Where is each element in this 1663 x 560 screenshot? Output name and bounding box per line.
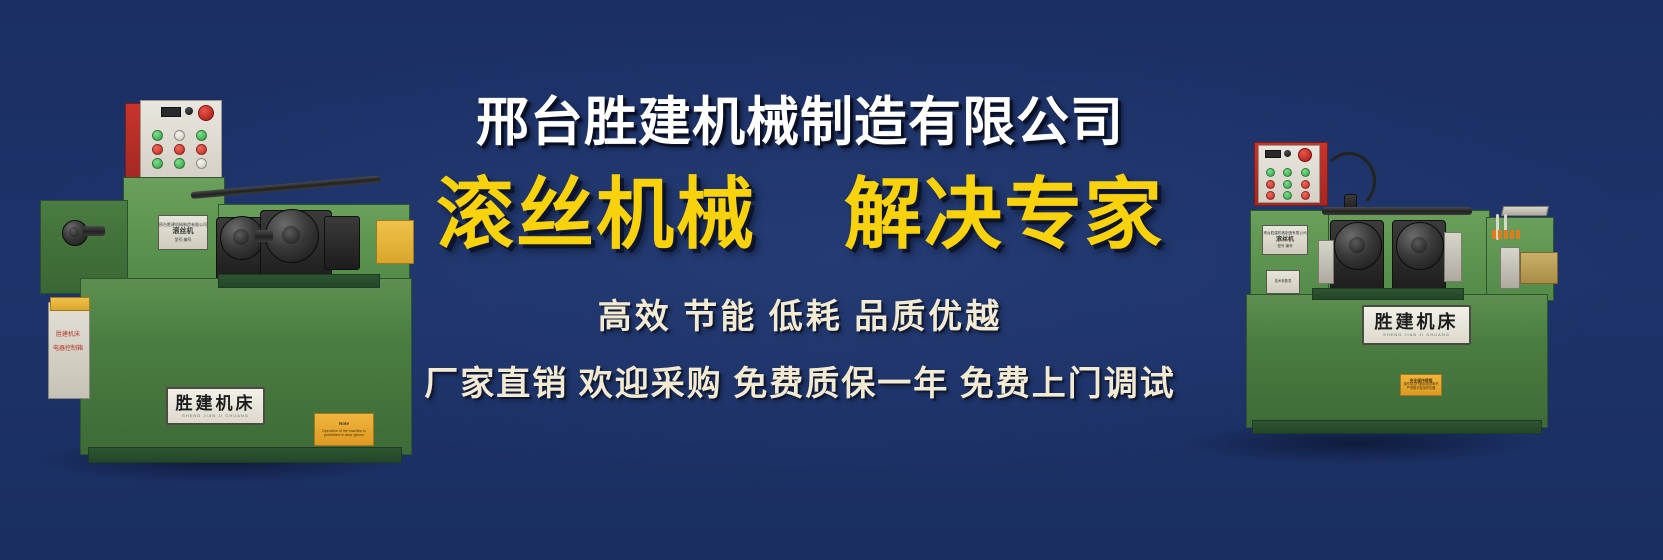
- emergency-stop-button: [198, 105, 214, 121]
- panel-button: [196, 130, 207, 141]
- indicator-dot: [1492, 230, 1496, 239]
- indicator-dot: [1510, 230, 1514, 239]
- spec-plate-line1: 邢台胜建机械制造有限公司: [1263, 231, 1306, 235]
- warn-title: Note: [339, 421, 349, 426]
- panel-button: [152, 144, 163, 155]
- spec-plate-line2: 滚丝机: [173, 228, 194, 236]
- panel-button: [1266, 180, 1275, 189]
- tagline-primary: 高效 节能 低耗 品质优越: [390, 289, 1210, 338]
- panel-button: [174, 130, 185, 141]
- roller-hub: [1411, 237, 1427, 253]
- banner-text-block: 邢台胜建机械制造有限公司 滚丝机械 解决专家 高效 节能 低耗 品质优越 厂家直…: [390, 95, 1210, 405]
- machine-bed-shadow: [1312, 288, 1464, 300]
- die-guide-left: [1318, 240, 1334, 284]
- warn-line2: 严禁戴手套操作机器: [1407, 387, 1436, 391]
- cabinet-text: 胜建机床 电器控制箱: [48, 332, 88, 354]
- brand-nameplate: 胜建机床 SHENG JIAN JI CHUANG: [166, 387, 265, 425]
- tagline-secondary: 厂家直销 欢迎采购 免费质保一年 免费上门调试: [390, 356, 1210, 405]
- panel-display: [161, 107, 181, 117]
- panel-button: [1301, 191, 1310, 200]
- spec-plate-line3: 型号 编号: [174, 238, 191, 243]
- panel-button: [196, 158, 207, 169]
- spec-plate-line1: 邢台胜建机械制造有限公司: [159, 223, 207, 228]
- spec-plate: 邢台胜建机械制造有限公司 滚丝机 型号 编号: [158, 215, 208, 250]
- panel-button: [174, 158, 185, 169]
- indicator-dot: [1516, 230, 1520, 239]
- feeder-indicator-dots: [1492, 230, 1520, 239]
- panel-button: [152, 158, 163, 169]
- safety-warning-label: 安全操作规程 操作前请仔细阅读说明书 严禁戴手套操作机器: [1400, 374, 1442, 396]
- machine-bed-shadow: [218, 274, 380, 288]
- cabinet-top-label: [50, 297, 90, 311]
- company-name: 邢台胜建机械制造有限公司: [390, 95, 1210, 151]
- machine-image-right: 邢台胜建机械制造有限公司 滚丝机 型号 编号 技术参数表 胜建机床 SHENG …: [1162, 122, 1562, 462]
- bearing-block: [324, 216, 360, 270]
- emergency-stop-button: [1298, 148, 1312, 162]
- panel-button: [1266, 191, 1275, 200]
- nameplate-pinyin: SHENG JIAN JI CHUANG: [182, 414, 249, 418]
- indicator-dot: [1504, 230, 1508, 239]
- left-head-shaft: [83, 226, 105, 236]
- panel-button: [1283, 180, 1292, 189]
- parameter-plate: 技术参数表: [1266, 270, 1300, 294]
- spec-plate-line2: 滚丝机: [1276, 237, 1294, 244]
- machine-foot: [88, 447, 402, 463]
- panel-button: [1301, 180, 1310, 189]
- panel-button: [174, 144, 185, 155]
- panel-display: [1265, 150, 1281, 158]
- panel-button: [1283, 168, 1292, 177]
- panel-button: [196, 144, 207, 155]
- headline-right: 解决专家: [844, 175, 1164, 253]
- safety-warning-label: Note Operation of the machine is prohibi…: [314, 413, 374, 446]
- feeder-tray: [1501, 206, 1549, 216]
- die-guide-right: [1444, 232, 1462, 282]
- brass-spec-plate: [1520, 252, 1558, 284]
- panel-button: [1301, 168, 1310, 177]
- parameter-plate-line1: 技术参数表: [1275, 280, 1292, 284]
- headline-row: 滚丝机械 解决专家: [390, 175, 1210, 253]
- brand-nameplate: 胜建机床 SHENG JIAN JI CHUANG: [1362, 305, 1471, 345]
- roller-hub: [233, 229, 249, 245]
- roller-hub: [1349, 237, 1365, 253]
- machine-foot: [1252, 420, 1542, 434]
- left-head-hub: [69, 227, 79, 237]
- headline-left: 滚丝机械: [436, 175, 756, 253]
- connecting-shaft: [255, 230, 273, 242]
- hydraulic-cylinder: [1500, 247, 1520, 289]
- nameplate-pinyin: SHENG JIAN JI CHUANG: [1383, 333, 1450, 337]
- nameplate-chinese: 胜建机床: [1375, 313, 1459, 331]
- panel-knob-icon: [1284, 150, 1291, 157]
- panel-knob-icon: [185, 107, 193, 115]
- cabinet-text-line1: 胜建机床: [48, 332, 88, 340]
- spec-plate: 邢台胜建机械制造有限公司 滚丝机 型号 编号: [1262, 225, 1308, 255]
- panel-button: [1266, 168, 1275, 177]
- roller-hub: [282, 226, 300, 244]
- cabinet-text-line2: 电器控制箱: [48, 346, 88, 354]
- warn-line2: prohibited to wear gloves: [324, 433, 364, 437]
- panel-button: [1283, 191, 1292, 200]
- nameplate-chinese: 胜建机床: [176, 395, 256, 412]
- horizontal-shaft: [1322, 207, 1472, 215]
- promotional-banner: 胜建机床 电器控制箱 邢台胜建机械制造有限公司 滚丝机 型号 编号 胜建机床 S…: [0, 0, 1663, 560]
- indicator-dot: [1498, 230, 1502, 239]
- spec-plate-line3: 型号 编号: [1277, 244, 1292, 248]
- panel-button: [152, 130, 163, 141]
- machine-image-left: 胜建机床 电器控制箱 邢台胜建机械制造有限公司 滚丝机 型号 编号 胜建机床 S…: [28, 92, 418, 472]
